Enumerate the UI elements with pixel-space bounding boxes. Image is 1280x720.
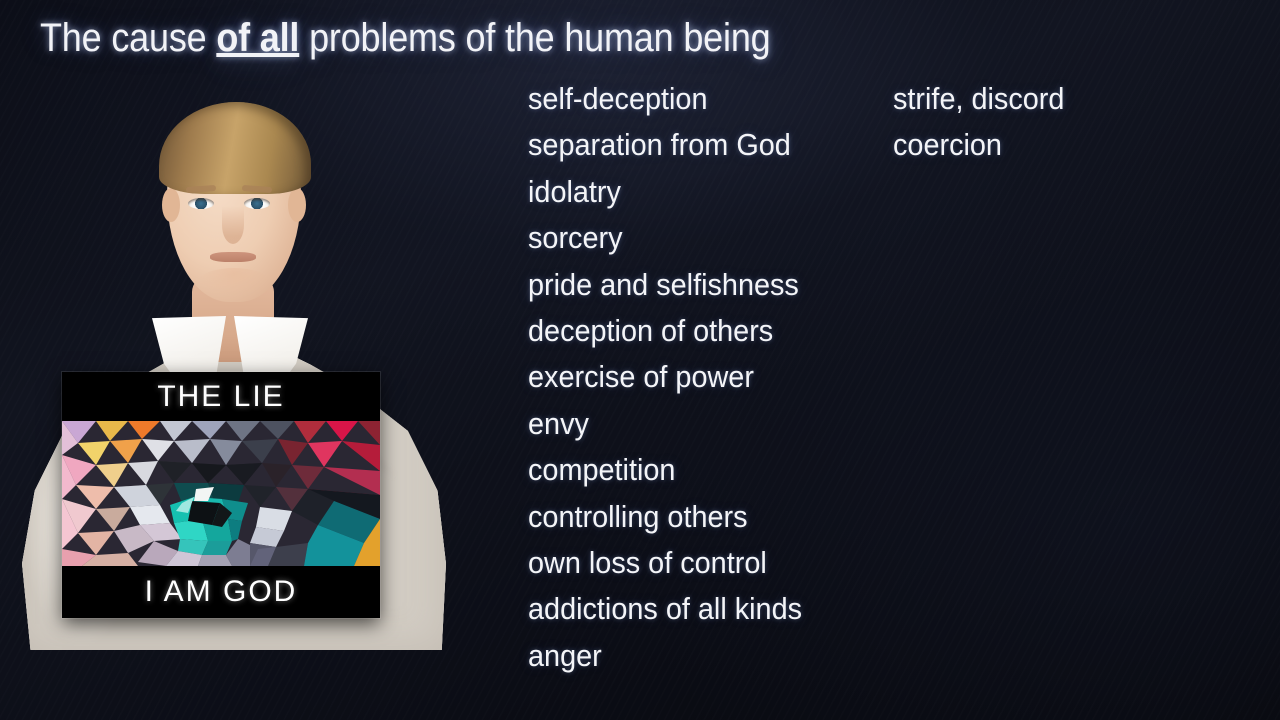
card-top-label: THE LIE (62, 372, 380, 421)
hair-shape (159, 102, 311, 194)
low-poly-eye-icon (62, 421, 380, 566)
problem-list-column-2: strife, discord coercion (893, 76, 1077, 169)
slide-canvas: The cause of all problems of the human b… (0, 0, 1280, 720)
title-before: The cause (40, 16, 216, 60)
title-emphasis: of all (216, 16, 299, 60)
list-item: deception of others (528, 308, 802, 354)
list-item: sorcery (528, 215, 802, 261)
nose-shape (222, 206, 244, 244)
list-item: exercise of power (528, 354, 802, 400)
ear-left (162, 188, 180, 222)
list-item: anger (528, 633, 802, 679)
eye-right (244, 198, 270, 209)
list-item: envy (528, 401, 802, 447)
page-title: The cause of all problems of the human b… (40, 12, 771, 64)
problem-list-column-1: self-deception separation from God idola… (528, 76, 823, 679)
ear-right (288, 188, 306, 222)
list-item: pride and selfishness (528, 262, 802, 308)
list-item: self-deception (528, 76, 802, 122)
list-item: own loss of control (528, 540, 802, 586)
list-item: competition (528, 447, 802, 493)
list-item: strife, discord (893, 76, 1064, 122)
list-item: separation from God (528, 122, 802, 168)
list-item: controlling others (528, 494, 802, 540)
mouth-shape (210, 252, 256, 262)
title-after: problems of the human being (299, 16, 770, 60)
lie-card: THE LIE (62, 372, 380, 618)
list-item: coercion (893, 122, 1064, 168)
list-item: idolatry (528, 169, 802, 215)
card-bottom-label: I AM GOD (62, 566, 380, 618)
list-item: addictions of all kinds (528, 586, 802, 632)
chin-shape (198, 268, 270, 296)
eye-left (188, 198, 214, 209)
